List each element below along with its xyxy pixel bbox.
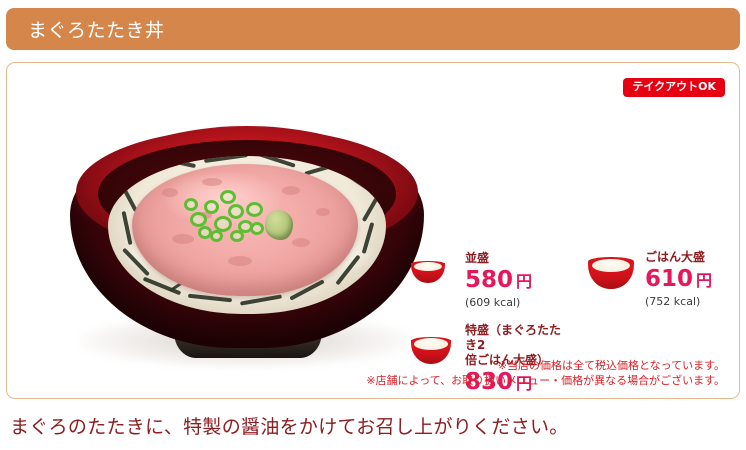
page-title: まぐろたたき丼	[28, 16, 165, 43]
green-onion-garnish	[184, 190, 268, 242]
yen-symbol: 円	[696, 271, 712, 290]
yen-symbol: 円	[516, 272, 532, 291]
price-value: 580円	[465, 267, 532, 295]
rice-bowl-small-icon	[411, 255, 445, 283]
disclaimer-line-1: ※当店の価格は全て税込価格となっています。	[366, 358, 725, 373]
price-label: ごはん大盛	[645, 250, 712, 265]
price-kcal: (927 kcal)	[465, 398, 571, 399]
price-label: 並盛	[465, 251, 532, 266]
wasabi-garnish	[265, 210, 293, 240]
price-disclaimer: ※当店の価格は全て税込価格となっています。 ※店舗によって、お取り扱いメニュー・…	[366, 358, 725, 388]
page-header-bar: まぐろたたき丼	[6, 8, 740, 50]
price-kcal: (752 kcal)	[645, 295, 712, 309]
rice-bowl-large-icon	[588, 251, 634, 289]
price-kcal: (609 kcal)	[465, 296, 532, 310]
disclaimer-line-2: ※店舗によって、お取り扱いメニュー・価格が異なる場合がございます。	[366, 373, 725, 388]
price-value: 610円	[645, 266, 712, 294]
dish-photo	[62, 118, 432, 383]
dish-caption: まぐろのたたきに、特製の醤油をかけてお召し上がりください。	[10, 412, 569, 439]
price-entry-nami: 並盛 580円 (609 kcal)	[411, 255, 561, 327]
takeout-ok-badge: テイクアウトOK	[623, 78, 725, 97]
menu-content-panel: テイクアウトOK	[6, 62, 740, 399]
price-entry-gohan-omori: ごはん大盛 610円 (752 kcal)	[588, 251, 738, 329]
